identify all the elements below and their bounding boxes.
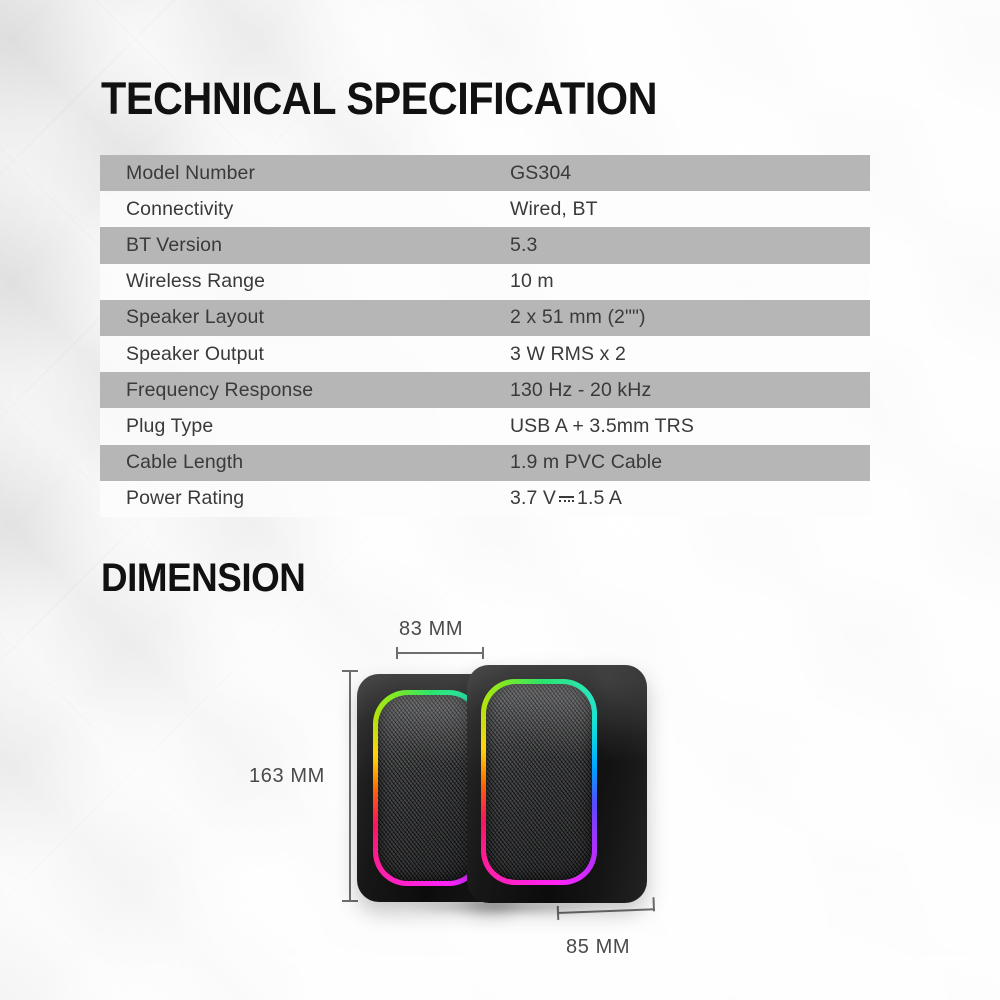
power-rating-voltage: 3.7 V: [510, 487, 556, 509]
spec-value: 5.3: [510, 234, 870, 257]
spec-label: Speaker Layout: [100, 306, 510, 329]
table-row: Connectivity Wired, BT: [100, 191, 870, 227]
table-row: Model Number GS304: [100, 155, 870, 191]
spec-label: Cable Length: [100, 451, 510, 474]
speaker-grille: [378, 695, 478, 881]
table-row: Speaker Layout 2 x 51 mm (2""): [100, 300, 870, 336]
measure-end-cap: [482, 647, 484, 659]
depth-dimension-label: 85 MM: [566, 936, 630, 959]
table-row: Wireless Range 10 m: [100, 264, 870, 300]
spec-value: 130 Hz - 20 kHz: [510, 379, 870, 402]
table-row: Cable Length 1.9 m PVC Cable: [100, 445, 870, 481]
width-dimension-label: 83 MM: [399, 618, 463, 641]
spec-value: 3.7 V1.5 A: [510, 487, 870, 510]
spec-value: 10 m: [510, 270, 870, 293]
dimension-figure: 83 MM 163 MM 85 MM: [0, 600, 1000, 1000]
power-rating-current: 1.5 A: [577, 487, 622, 509]
spec-value: GS304: [510, 162, 870, 185]
speaker-unit-right: [467, 665, 647, 903]
dimension-heading: DIMENSION: [101, 555, 305, 601]
spec-label: Model Number: [100, 162, 510, 185]
width-measure-line: [396, 647, 484, 659]
spec-label: BT Version: [100, 234, 510, 257]
table-row: BT Version 5.3: [100, 227, 870, 263]
measure-end-cap: [396, 647, 398, 659]
height-dimension-label: 163 MM: [249, 765, 325, 788]
table-row: Power Rating 3.7 V1.5 A: [100, 481, 870, 517]
spec-value: 2 x 51 mm (2""): [510, 306, 870, 329]
dc-power-symbol-icon: [559, 493, 574, 505]
speaker-product-image: [355, 662, 665, 922]
spec-label: Power Rating: [100, 487, 510, 510]
table-row: Frequency Response 130 Hz - 20 kHz: [100, 372, 870, 408]
spec-value: USB A + 3.5mm TRS: [510, 415, 870, 438]
rgb-light-ring: [481, 679, 597, 885]
speaker-grille: [486, 684, 592, 880]
spec-value: Wired, BT: [510, 198, 870, 221]
spec-label: Speaker Output: [100, 343, 510, 366]
spec-label: Frequency Response: [100, 379, 510, 402]
product-spec-page: TECHNICAL SPECIFICATION Model Number GS3…: [0, 0, 1000, 1000]
spec-value: 3 W RMS x 2: [510, 343, 870, 366]
table-row: Plug Type USB A + 3.5mm TRS: [100, 408, 870, 444]
spec-value: 1.9 m PVC Cable: [510, 451, 870, 474]
measure-bar: [349, 670, 351, 902]
technical-specification-heading: TECHNICAL SPECIFICATION: [101, 74, 657, 124]
specification-table: Model Number GS304 Connectivity Wired, B…: [100, 155, 870, 517]
spec-label: Plug Type: [100, 415, 510, 438]
table-row: Speaker Output 3 W RMS x 2: [100, 336, 870, 372]
measure-bar: [396, 652, 484, 654]
spec-label: Wireless Range: [100, 270, 510, 293]
spec-label: Connectivity: [100, 198, 510, 221]
